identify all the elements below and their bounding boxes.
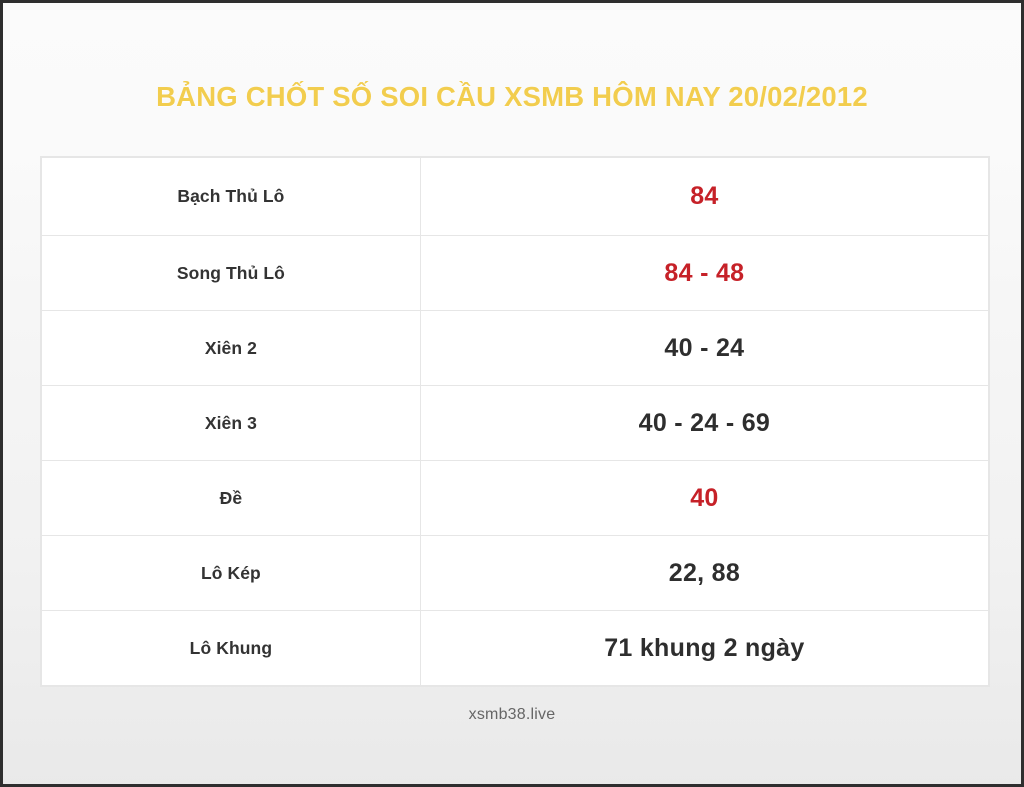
row-label-lo-khung: Lô Khung [42, 611, 421, 686]
prediction-table: Bạch Thủ Lô 84 Song Thủ Lô 84 - 48 Xiên … [41, 157, 989, 686]
table-row: Lô Khung 71 khung 2 ngày [42, 611, 989, 686]
row-value-xien-3: 40 - 24 - 69 [420, 386, 988, 461]
row-value-lo-khung: 71 khung 2 ngày [420, 611, 988, 686]
prediction-table-body: Bạch Thủ Lô 84 Song Thủ Lô 84 - 48 Xiên … [42, 158, 989, 686]
row-label-xien-3: Xiên 3 [42, 386, 421, 461]
table-row: Đề 40 [42, 461, 989, 536]
row-label-song-thu-lo: Song Thủ Lô [42, 236, 421, 311]
prediction-table-container: Bạch Thủ Lô 84 Song Thủ Lô 84 - 48 Xiên … [41, 157, 989, 686]
page-frame: BẢNG CHỐT SỐ SOI CẦU XSMB HÔM NAY 20/02/… [0, 0, 1024, 787]
row-label-de: Đề [42, 461, 421, 536]
table-row: Xiên 3 40 - 24 - 69 [42, 386, 989, 461]
row-label-bach-thu-lo: Bạch Thủ Lô [42, 158, 421, 236]
table-row: Lô Kép 22, 88 [42, 536, 989, 611]
table-row: Song Thủ Lô 84 - 48 [42, 236, 989, 311]
page-title: BẢNG CHỐT SỐ SOI CẦU XSMB HÔM NAY 20/02/… [3, 81, 1021, 113]
row-label-lo-kep: Lô Kép [42, 536, 421, 611]
row-value-xien-2: 40 - 24 [420, 311, 988, 386]
row-value-lo-kep: 22, 88 [420, 536, 988, 611]
footer-site-name: xsmb38.live [3, 706, 1021, 724]
row-value-bach-thu-lo: 84 [420, 158, 988, 236]
table-row: Bạch Thủ Lô 84 [42, 158, 989, 236]
row-value-song-thu-lo: 84 - 48 [420, 236, 988, 311]
table-row: Xiên 2 40 - 24 [42, 311, 989, 386]
row-label-xien-2: Xiên 2 [42, 311, 421, 386]
row-value-de: 40 [420, 461, 988, 536]
